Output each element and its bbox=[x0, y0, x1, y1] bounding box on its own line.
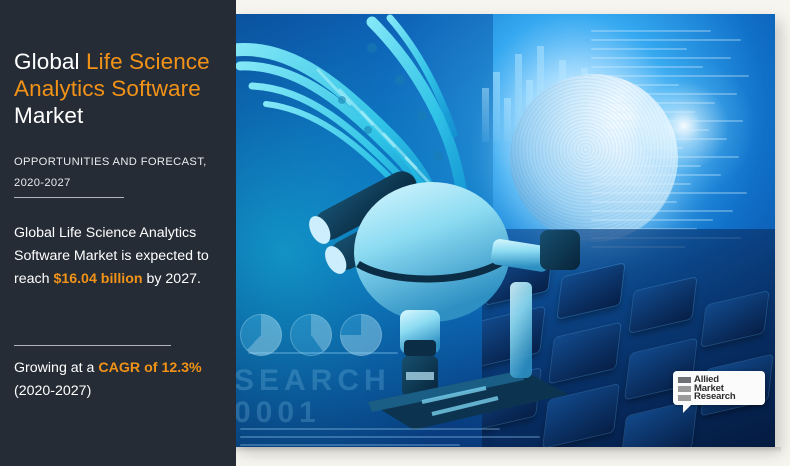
infographic-page: SEARCH 0001 Allied Market Research Globa… bbox=[0, 0, 790, 466]
pie-charts-icon bbox=[240, 314, 380, 370]
stat-cagr-lead: Growing at a bbox=[14, 360, 98, 376]
stat-cagr-trail: (2020-2027) bbox=[14, 383, 91, 399]
stat-cagr: Growing at a CAGR of 12.3% (2020-2027) bbox=[14, 357, 232, 403]
stat-market-value: Global Life Science Analytics Software M… bbox=[14, 222, 232, 291]
stat-cagr-value: CAGR of 12.3% bbox=[98, 360, 201, 376]
divider-top bbox=[14, 197, 124, 198]
card-shadow bbox=[232, 447, 781, 453]
logo-line-3: Research bbox=[694, 393, 736, 401]
left-text-panel: Global Life Science Analytics Software M… bbox=[0, 0, 236, 466]
logo-bars-icon bbox=[678, 376, 691, 401]
divider-bottom bbox=[14, 345, 171, 346]
stat-reach-value: $16.04 billion bbox=[53, 271, 142, 287]
title-part-3: Market bbox=[14, 103, 83, 128]
data-text-columns bbox=[591, 30, 771, 260]
allied-market-research-logo: Allied Market Research bbox=[673, 371, 765, 405]
ghost-search-text: SEARCH bbox=[234, 366, 391, 396]
stat-reach-trail: by 2027. bbox=[143, 271, 201, 287]
page-title: Global Life Science Analytics Software M… bbox=[14, 48, 226, 129]
title-part-1: Global bbox=[14, 49, 86, 74]
ghost-secondary-text: 0001 bbox=[234, 398, 321, 428]
page-subtitle: OPPORTUNITIES AND FORECAST, 2020-2027 bbox=[14, 152, 229, 194]
hero-image: SEARCH 0001 Allied Market Research bbox=[232, 14, 775, 447]
